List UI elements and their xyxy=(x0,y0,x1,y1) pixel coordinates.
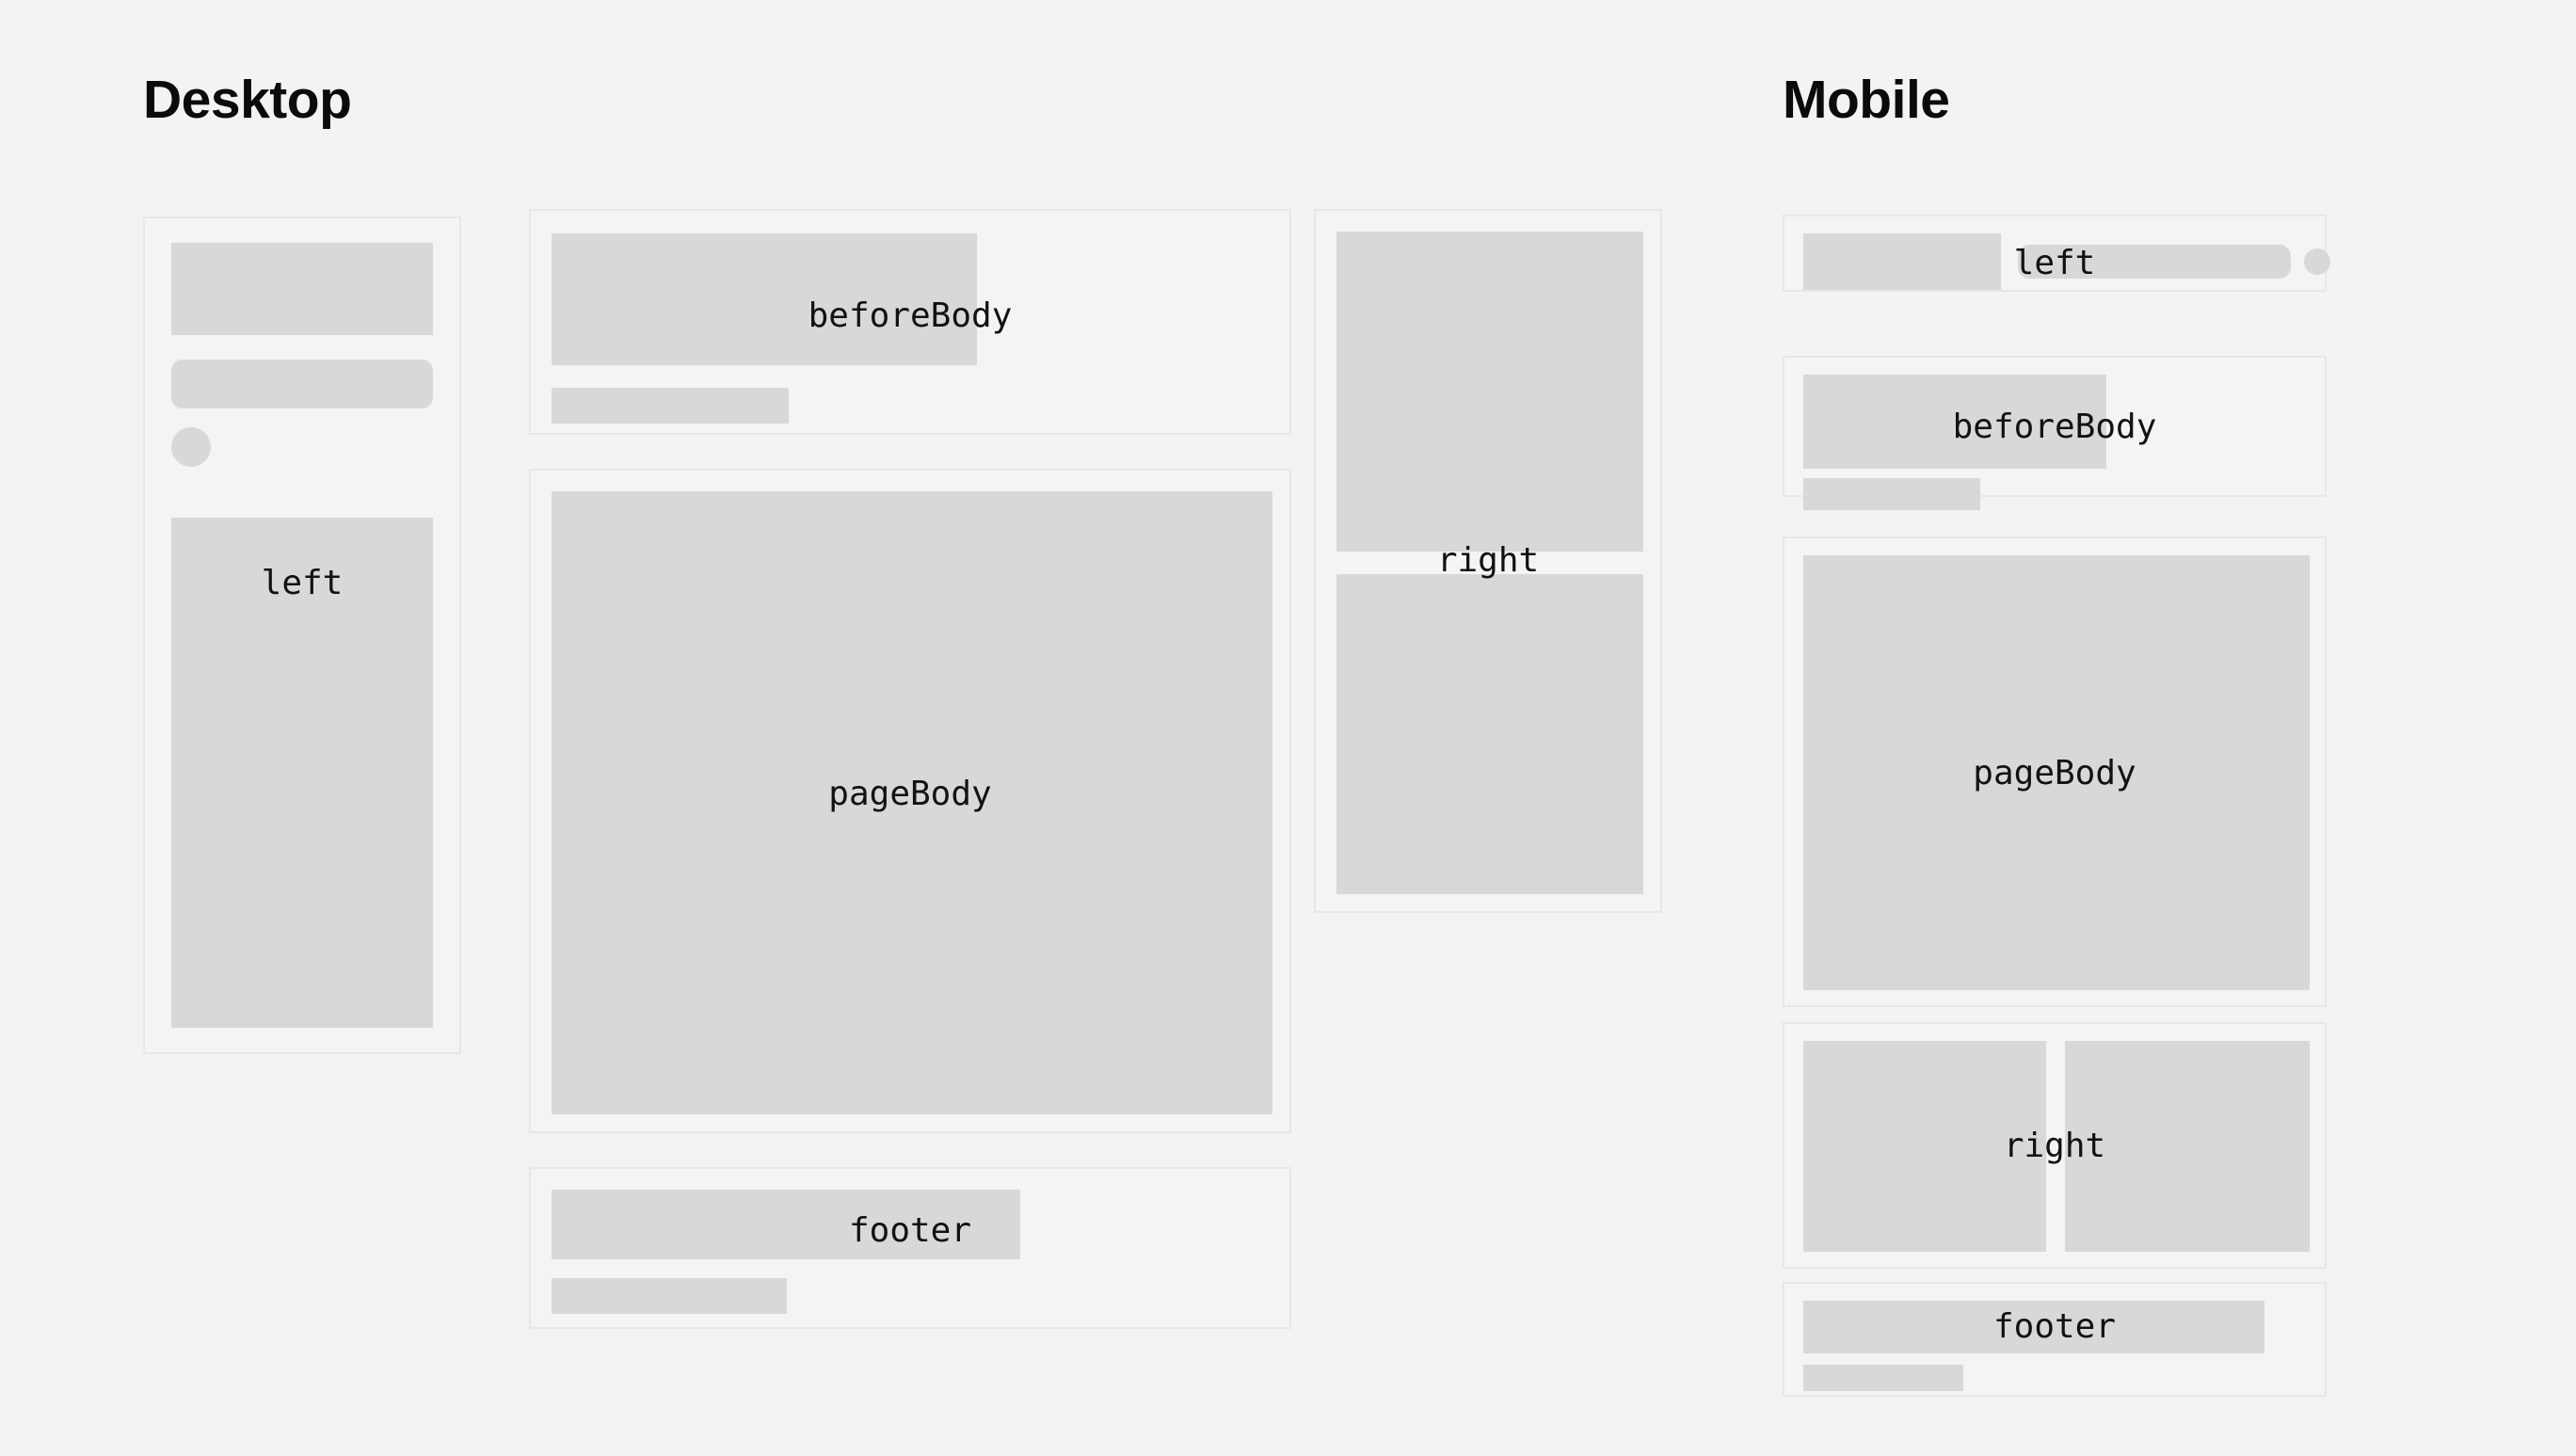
mobile-beforebody-block-large xyxy=(1803,375,2106,469)
desktop-footer-block-large xyxy=(552,1190,1020,1259)
mobile-slot-pagebody[interactable]: pageBody xyxy=(1783,536,2327,1007)
mobile-slot-beforebody[interactable]: beforeBody xyxy=(1783,356,2327,497)
mobile-slot-left[interactable]: left xyxy=(1783,215,2327,292)
mobile-slot-right[interactable]: right xyxy=(1783,1022,2327,1269)
desktop-left-block-rounded xyxy=(171,360,433,408)
mobile-beforebody-block-small xyxy=(1803,478,1980,510)
desktop-slot-right[interactable]: right xyxy=(1314,209,1662,913)
desktop-right-block-top xyxy=(1336,232,1643,552)
desktop-left-block-large xyxy=(171,243,433,335)
desktop-slot-footer[interactable] xyxy=(529,1167,1291,1329)
desktop-beforebody-block-small xyxy=(552,388,789,424)
mobile-left-block-rounded xyxy=(2018,245,2291,279)
desktop-pagebody-block-large xyxy=(552,491,1272,1114)
mobile-left-block-large xyxy=(1803,233,2001,290)
desktop-right-block-bottom xyxy=(1336,574,1643,894)
desktop-left-block-tall xyxy=(171,518,433,1028)
desktop-left-block-circle xyxy=(171,427,211,467)
mobile-section-title: Mobile xyxy=(1783,73,1950,127)
desktop-slot-pagebody[interactable]: pageBody xyxy=(529,469,1291,1133)
desktop-section-title: Desktop xyxy=(143,73,351,127)
mobile-footer-block-small xyxy=(1803,1365,1963,1391)
desktop-slot-beforebody[interactable]: beforeBody xyxy=(529,209,1291,435)
mobile-right-block-right xyxy=(2065,1041,2310,1252)
mobile-right-block-left xyxy=(1803,1041,2046,1252)
mobile-left-block-circle xyxy=(2304,248,2330,275)
mobile-footer-block-large xyxy=(1803,1301,2264,1353)
desktop-footer-block-small xyxy=(552,1278,787,1314)
mobile-pagebody-block-large xyxy=(1803,555,2310,990)
layout-preview-stage: Desktop left beforeBody pageBody footer … xyxy=(0,0,2576,1456)
desktop-slot-left[interactable]: left xyxy=(143,216,461,1054)
desktop-beforebody-block-large xyxy=(552,233,977,365)
mobile-slot-footer[interactable]: footer xyxy=(1783,1282,2327,1397)
